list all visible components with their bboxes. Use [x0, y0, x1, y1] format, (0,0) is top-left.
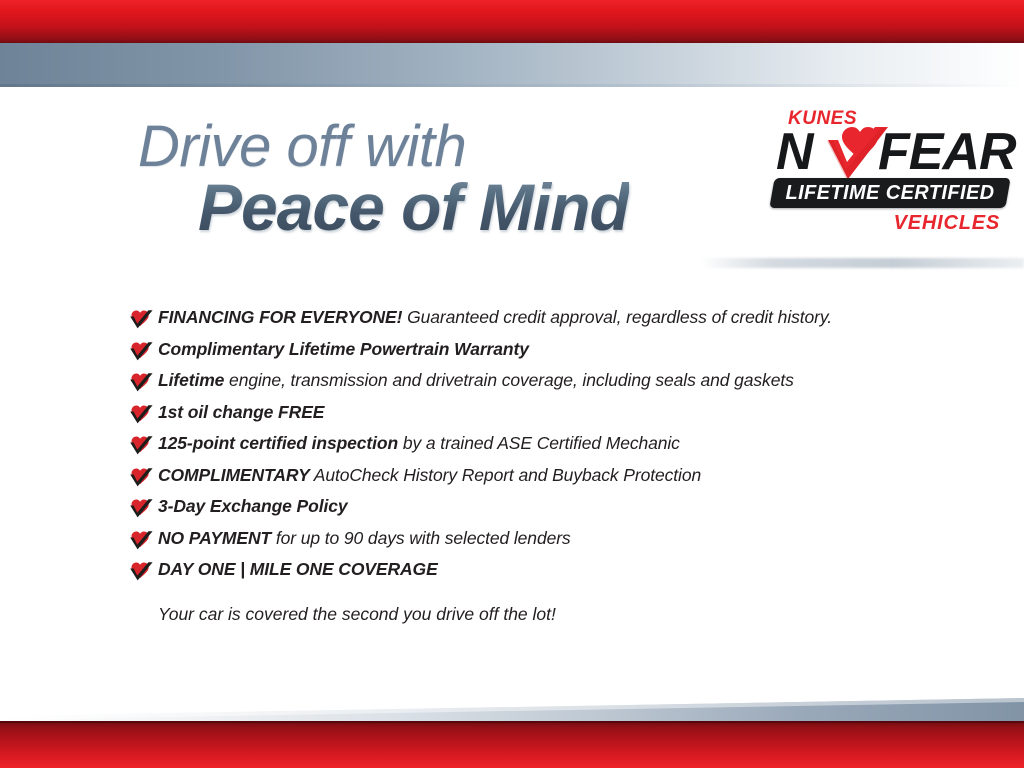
benefit-subtext: Your car is covered the second you drive… — [158, 603, 958, 625]
benefit-bold: Complimentary Lifetime Powertrain Warran… — [158, 339, 529, 359]
kunes-no-fear-logo: KUNES N FEAR LIFETIME CERTIFIED VEHICLES — [772, 108, 1012, 248]
benefit-normal: AutoCheck History Report and Buyback Pro… — [310, 465, 701, 485]
benefit-text: FINANCING FOR EVERYONE! Guaranteed credi… — [158, 306, 958, 328]
benefit-text: DAY ONE | MILE ONE COVERAGE — [158, 558, 958, 580]
check-heart-icon — [128, 434, 154, 456]
check-heart-icon — [128, 308, 154, 330]
benefit-bold: 3-Day Exchange Policy — [158, 496, 348, 516]
benefit-row: 1st oil change FREE — [128, 401, 958, 433]
benefit-row: COMPLIMENTARY AutoCheck History Report a… — [128, 464, 958, 496]
check-heart-icon — [128, 371, 154, 393]
benefit-normal: by a trained ASE Certified Mechanic — [398, 433, 680, 453]
benefit-normal: Guaranteed credit approval, regardless o… — [402, 307, 832, 327]
logo-nofear-row: N FEAR — [776, 126, 1012, 182]
logo-word-vehicles: VEHICLES — [894, 212, 1000, 235]
benefit-bold: 1st oil change FREE — [158, 402, 324, 422]
advertisement-root: Drive off with Peace of Mind KUNES N FEA… — [0, 0, 1024, 768]
bottom-red-banner-bar — [0, 721, 1024, 768]
benefit-text: Lifetime engine, transmission and drivet… — [158, 369, 958, 391]
bottom-banner — [0, 688, 1024, 768]
check-heart-icon — [128, 529, 154, 551]
benefit-bold: 125-point certified inspection — [158, 433, 398, 453]
benefit-row: DAY ONE | MILE ONE COVERAGE — [128, 558, 958, 602]
benefit-normal: engine, transmission and drivetrain cove… — [224, 370, 793, 390]
logo-word-fear: FEAR — [878, 126, 1016, 178]
check-heart-icon — [128, 497, 154, 519]
benefit-text: NO PAYMENT for up to 90 days with select… — [158, 527, 958, 549]
check-heart-icon — [128, 560, 154, 582]
benefit-text: Complimentary Lifetime Powertrain Warran… — [158, 338, 958, 360]
benefit-text: COMPLIMENTARY AutoCheck History Report a… — [158, 464, 958, 486]
benefit-text: 3-Day Exchange Policy — [158, 495, 958, 517]
benefit-normal: for up to 90 days with selected lenders — [271, 528, 571, 548]
top-red-banner-bar — [0, 0, 1024, 43]
headline-line-1: Drive off with — [138, 118, 466, 176]
logo-lifetime-certified-bar: LIFETIME CERTIFIED — [769, 178, 1010, 208]
top-gray-banner-bar — [0, 43, 1024, 87]
benefit-bold: Lifetime — [158, 370, 224, 390]
headline-line-2: Peace of Mind — [198, 174, 629, 240]
benefit-text: 125-point certified inspection by a trai… — [158, 432, 958, 454]
benefit-row: Complimentary Lifetime Powertrain Warran… — [128, 338, 958, 370]
benefit-bold: COMPLIMENTARY — [158, 465, 310, 485]
benefit-row: 3-Day Exchange Policy — [128, 495, 958, 527]
check-heart-icon — [128, 340, 154, 362]
benefit-row: Lifetime engine, transmission and drivet… — [128, 369, 958, 401]
benefit-row: NO PAYMENT for up to 90 days with select… — [128, 527, 958, 559]
check-heart-icon — [128, 403, 154, 425]
benefit-row: FINANCING FOR EVERYONE! Guaranteed credi… — [128, 306, 958, 338]
benefit-text: 1st oil change FREE — [158, 401, 958, 423]
benefit-bold: DAY ONE | MILE ONE COVERAGE — [158, 559, 438, 579]
logo-lifetime-certified-text: LIFETIME CERTIFIED — [772, 178, 1008, 208]
check-heart-icon — [128, 466, 154, 488]
logo-letter-n: N — [776, 126, 812, 178]
header-divider — [700, 258, 1024, 268]
benefits-list: FINANCING FOR EVERYONE! Guaranteed credi… — [128, 306, 958, 625]
benefit-row: 125-point certified inspection by a trai… — [128, 432, 958, 464]
benefit-bold: NO PAYMENT — [158, 528, 271, 548]
benefit-bold: FINANCING FOR EVERYONE! — [158, 307, 402, 327]
